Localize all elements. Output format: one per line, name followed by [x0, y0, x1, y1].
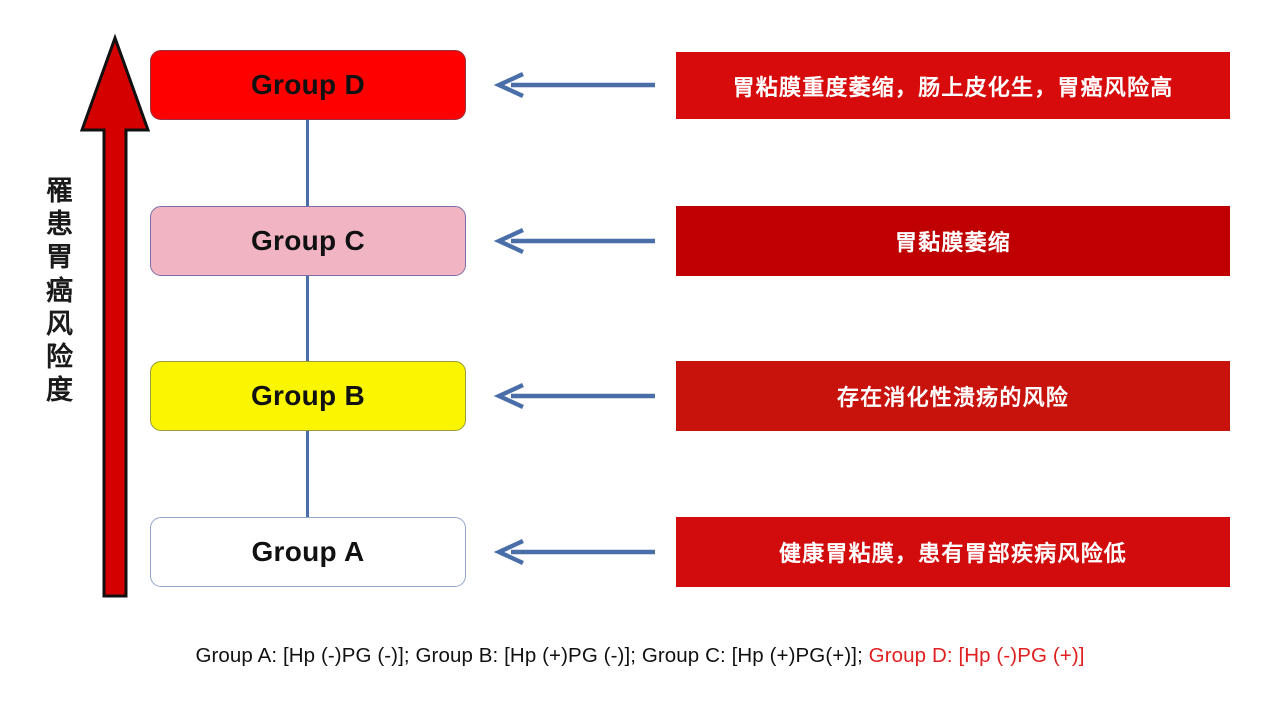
arrow-left-icon-a: [489, 539, 655, 565]
group-box-c[interactable]: Group C: [150, 206, 466, 276]
banner-group-b: 存在消化性溃疡的风险: [676, 361, 1230, 431]
arrow-left-icon-c: [489, 228, 655, 254]
caption-plain-text: Group A: [Hp (-)PG (-)]; Group B: [Hp (+…: [195, 644, 868, 667]
group-box-c-label: Group C: [251, 225, 365, 257]
arrow-left-icon-b: [489, 383, 655, 409]
group-box-b-label: Group B: [251, 380, 365, 412]
banner-group-c: 胃黏膜萎缩: [676, 206, 1230, 276]
caption: Group A: [Hp (-)PG (-)]; Group B: [Hp (+…: [0, 644, 1280, 668]
banner-group-a-text: 健康胃粘膜，患有胃部疾病风险低: [779, 536, 1127, 568]
banner-group-d-text: 胃粘膜重度萎缩，肠上皮化生，胃癌风险高: [733, 70, 1174, 102]
banner-group-b-text: 存在消化性溃疡的风险: [837, 380, 1069, 412]
group-box-d[interactable]: Group D: [150, 50, 466, 120]
group-box-d-label: Group D: [251, 69, 365, 101]
connector-c-to-b: [306, 276, 309, 361]
risk-axis: 罹患胃癌风险度: [0, 0, 150, 620]
risk-axis-label: 罹患胃癌风险度: [34, 175, 86, 407]
banner-group-a: 健康胃粘膜，患有胃部疾病风险低: [676, 517, 1230, 587]
group-box-b[interactable]: Group B: [150, 361, 466, 431]
group-box-a[interactable]: Group A: [150, 517, 466, 587]
banner-group-d: 胃粘膜重度萎缩，肠上皮化生，胃癌风险高: [676, 52, 1230, 119]
diagram-canvas: 罹患胃癌风险度 Group D Group C Group B Group A …: [0, 0, 1280, 720]
caption-highlight-text: Group D: [Hp (-)PG (+)]: [869, 644, 1085, 667]
connector-b-to-a: [306, 431, 309, 517]
connector-d-to-c: [306, 120, 309, 206]
banner-group-c-text: 胃黏膜萎缩: [895, 225, 1011, 257]
up-arrow-icon: [78, 34, 152, 600]
group-box-a-label: Group A: [251, 536, 364, 568]
arrow-left-icon-d: [489, 72, 655, 98]
